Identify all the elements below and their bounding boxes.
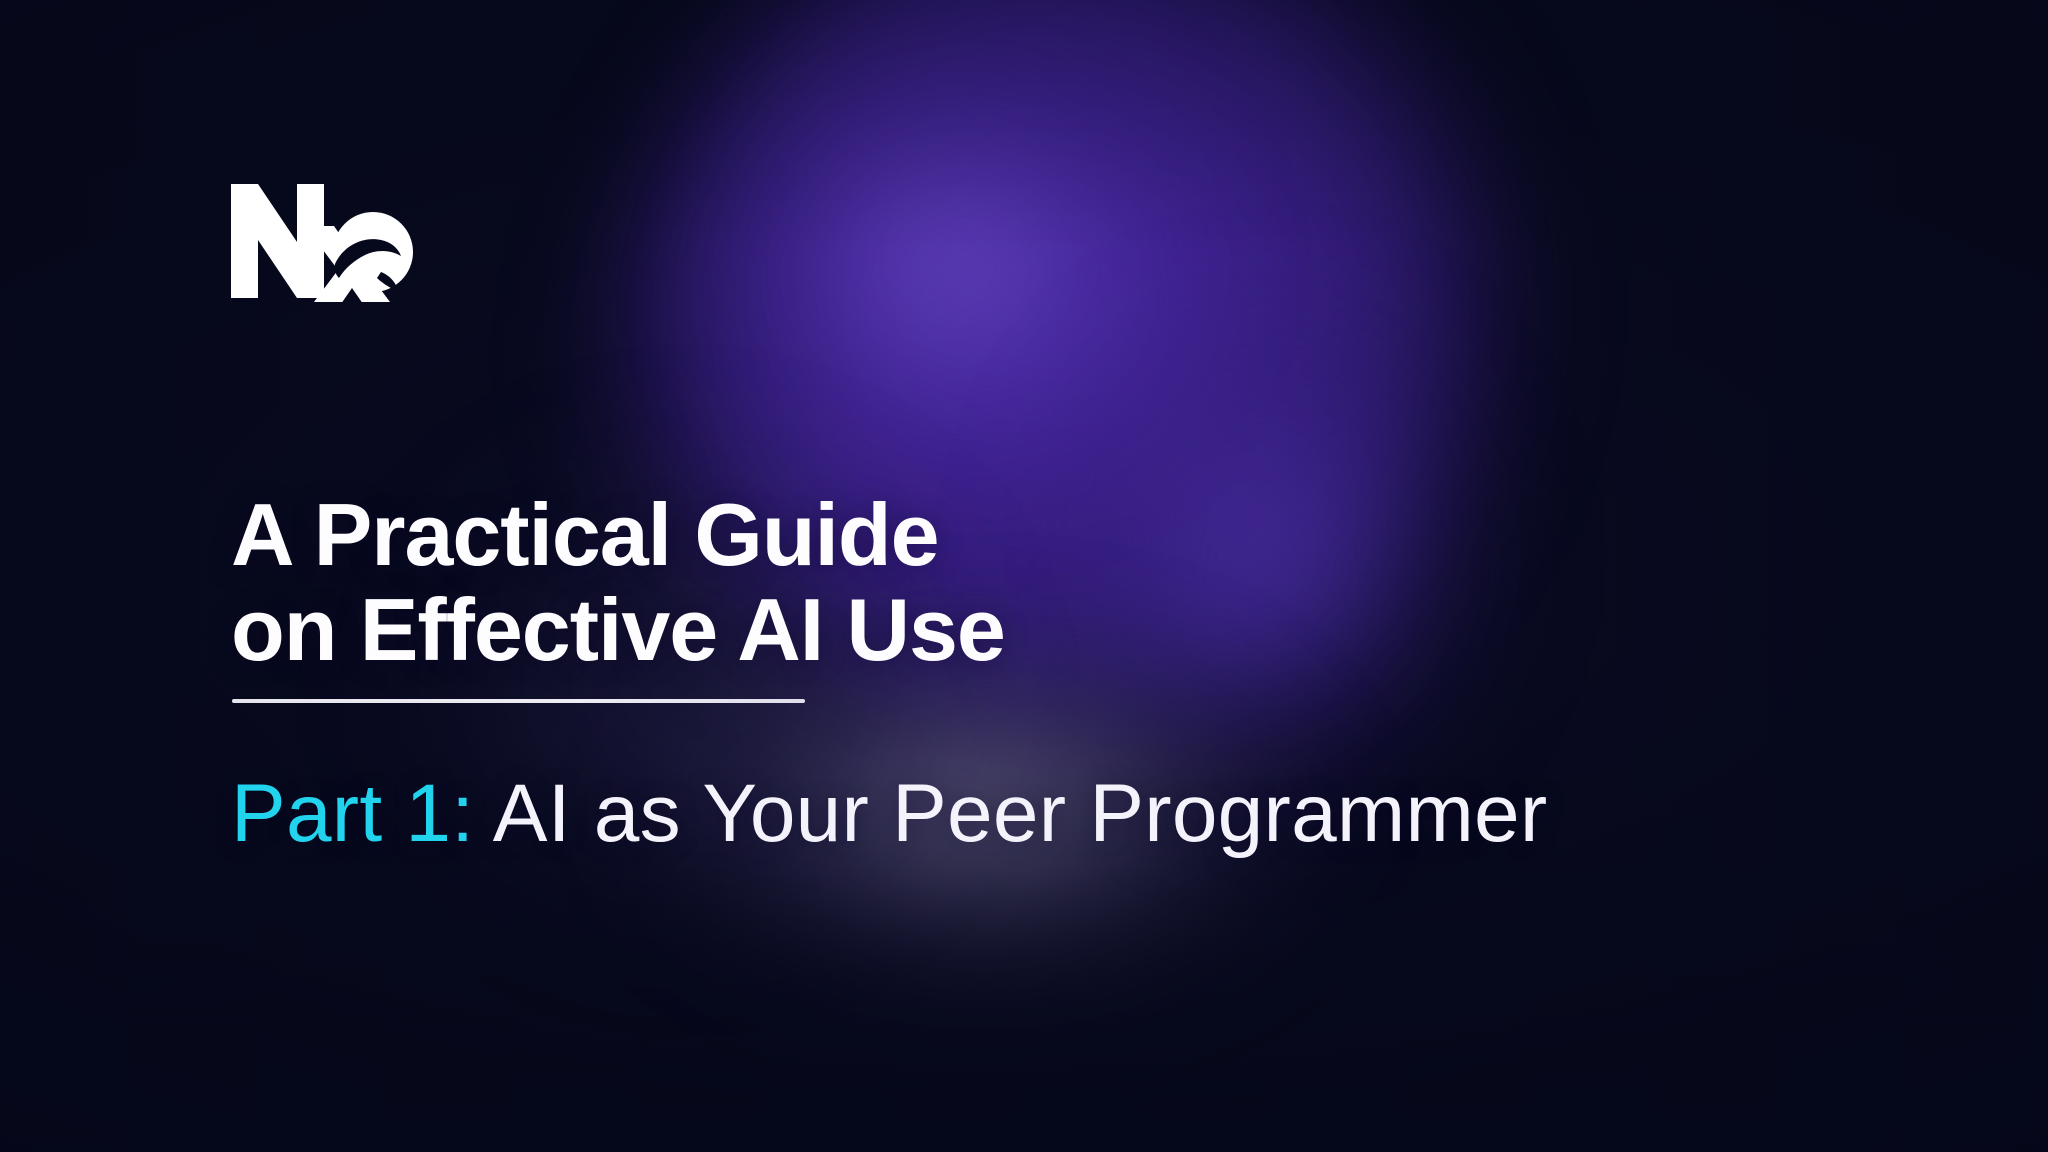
page-title: A Practical Guideon Effective AI Use — [231, 487, 1631, 677]
title-divider — [232, 699, 805, 703]
headline-line-1: A Practical Guide — [231, 487, 1631, 582]
cover-canvas: A Practical Guideon Effective AI Use Par… — [0, 0, 2048, 1152]
headline-line-2: on Effective AI Use — [231, 582, 1631, 677]
subtitle: Part 1: AI as Your Peer Programmer — [231, 768, 1931, 860]
part-label: Part 1: — [231, 768, 474, 859]
cover-content: A Practical Guideon Effective AI Use Par… — [0, 0, 2048, 1152]
nx-logo — [231, 180, 413, 302]
subtitle-text: AI as Your Peer Programmer — [474, 768, 1547, 859]
